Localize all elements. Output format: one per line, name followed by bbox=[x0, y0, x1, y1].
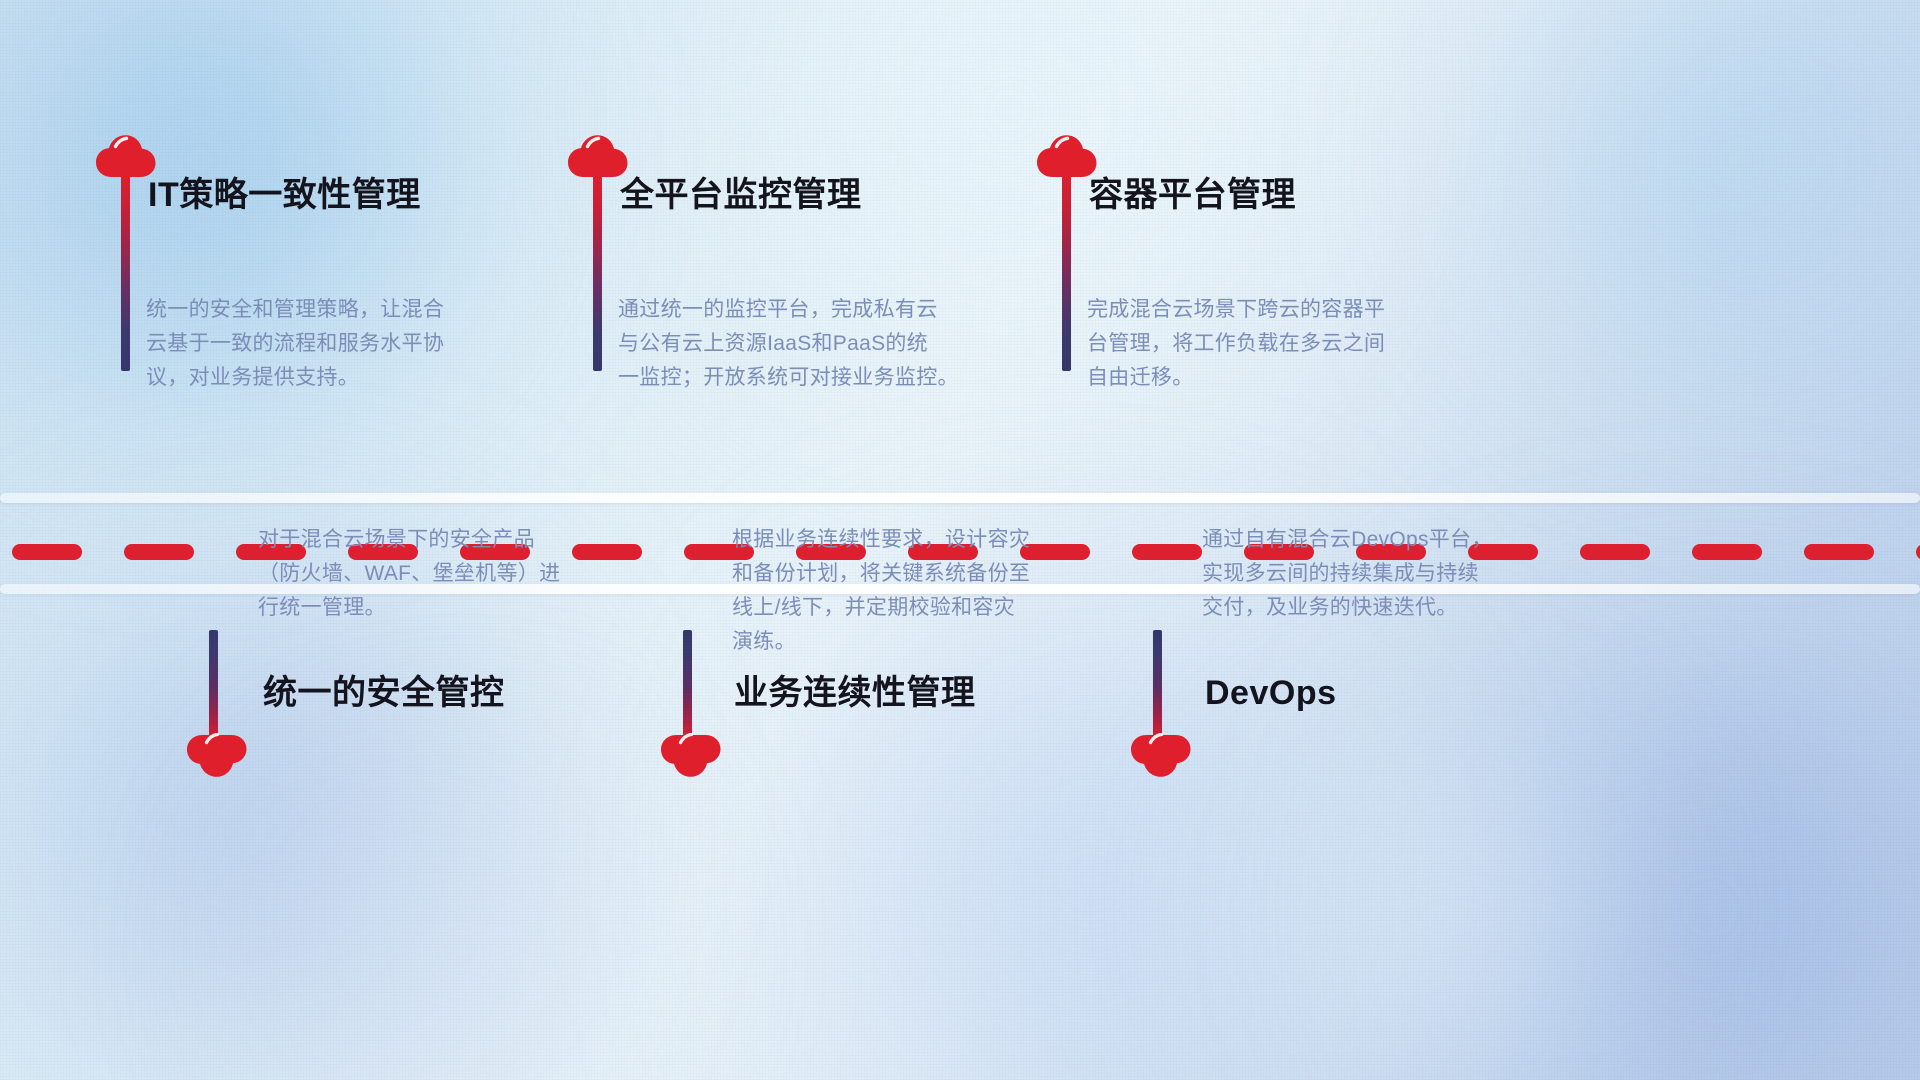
milestone-stem bbox=[1062, 171, 1071, 371]
milestone-stem bbox=[209, 630, 218, 740]
milestone-top-3-body: 完成混合云场景下跨云的容器平 台管理，将工作负载在多云之间 自由迁移。 bbox=[1087, 293, 1457, 395]
road-dash-segment bbox=[1132, 544, 1202, 560]
milestone-top-2-title: 全平台监控管理 bbox=[620, 177, 862, 214]
road-dash-segment bbox=[1916, 544, 1920, 560]
milestone-top-2-body: 通过统一的监控平台，完成私有云 与公有云上资源IaaS和PaaS的统 一监控；开… bbox=[618, 293, 998, 395]
milestone-bottom-1-pin[interactable] bbox=[186, 733, 248, 779]
cloud-icon bbox=[660, 733, 722, 779]
milestone-bottom-3-body: 通过自有混合云DevOps平台， 实现多云间的持续集成与持续 交付，及业务的快速… bbox=[1202, 523, 1562, 625]
cloud-icon bbox=[1130, 733, 1192, 779]
milestone-top-3-title: 容器平台管理 bbox=[1089, 177, 1296, 214]
cloud-icon bbox=[186, 733, 248, 779]
milestone-bottom-3-title: DevOps bbox=[1205, 675, 1337, 712]
milestone-bottom-3-pin[interactable] bbox=[1130, 733, 1192, 779]
road-dash-segment bbox=[124, 544, 194, 560]
milestone-bottom-2-body: 根据业务连续性要求，设计容灾 和备份计划，将关键系统备份至 线上/线下，并定期校… bbox=[732, 523, 1092, 659]
road-dash-segment bbox=[12, 544, 82, 560]
milestone-stem bbox=[593, 171, 602, 371]
milestone-bottom-1-body: 对于混合云场景下的安全产品 （防火墙、WAF、堡垒机等）进 行统一管理。 bbox=[258, 523, 618, 625]
milestone-bottom-2-title: 业务连续性管理 bbox=[734, 675, 976, 712]
milestone-top-1-title: IT策略一致性管理 bbox=[148, 177, 421, 214]
milestone-bottom-2-pin[interactable] bbox=[660, 733, 722, 779]
milestone-stem bbox=[121, 171, 130, 371]
road-dash-segment bbox=[1692, 544, 1762, 560]
road-dash-segment bbox=[1804, 544, 1874, 560]
road-dash-segment bbox=[1580, 544, 1650, 560]
road-edge-line-top bbox=[0, 493, 1920, 503]
milestone-stem bbox=[1153, 630, 1162, 740]
milestone-bottom-1-title: 统一的安全管控 bbox=[263, 675, 505, 712]
milestone-top-1-body: 统一的安全和管理策略，让混合 云基于一致的流程和服务水平协 议，对业务提供支持。 bbox=[146, 293, 506, 395]
milestone-stem bbox=[683, 630, 692, 740]
